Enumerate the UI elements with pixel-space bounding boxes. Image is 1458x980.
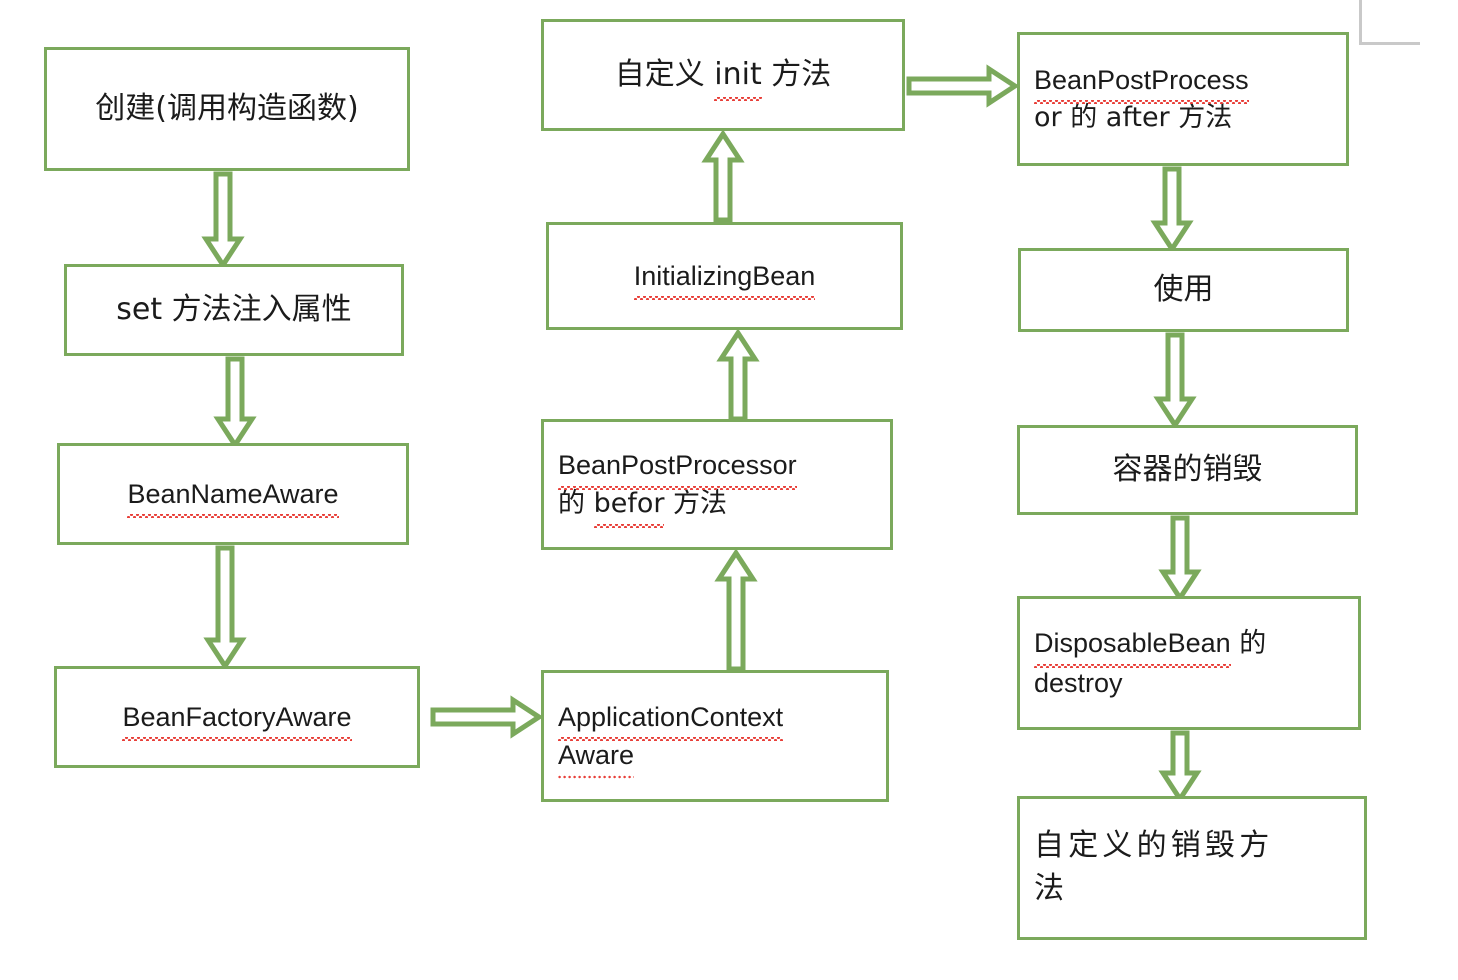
arrow-create-to-set	[203, 171, 243, 269]
arrow-custominit-to-bppafter	[906, 66, 1018, 108]
node-bpp-before-line1: BeanPostProcessor	[558, 446, 797, 484]
node-bean-name-aware-label: BeanNameAware	[127, 475, 338, 513]
node-custom-destroy-line2: 法	[1034, 868, 1068, 911]
arrow-beanfactoryaware-to-applicationcontextaware	[430, 697, 542, 739]
node-bpp-before-line2-prefix: 的	[558, 488, 594, 519]
node-custom-init: 自定义 init 方法	[541, 19, 905, 131]
node-container-destroy: 容器的销毁	[1017, 425, 1358, 515]
arrow-use-to-containerdestroy	[1155, 332, 1195, 428]
node-create: 创建(调用构造函数)	[44, 47, 410, 171]
node-set-inject-label: set 方法注入属性	[116, 289, 351, 332]
node-initializing-bean-label: InitializingBean	[634, 257, 816, 295]
arrow-set-to-beannameaware	[215, 356, 255, 448]
node-bean-factory-aware-label: BeanFactoryAware	[122, 698, 351, 736]
node-bean-post-processor-after: BeanPostProcess or 的 after 方法	[1017, 32, 1349, 166]
node-custom-init-misspelled: init	[714, 54, 761, 97]
node-custom-destroy-line1: 自定义的销毁方	[1034, 825, 1273, 868]
node-aca-line2: Aware	[558, 736, 634, 774]
node-bpp-before-line2-suffix: 方法	[664, 488, 727, 519]
node-bean-post-processor-before: BeanPostProcessor 的 befor 方法	[541, 419, 893, 550]
page-corner-mark	[1359, 0, 1420, 45]
node-disposable-bean-misspelled: DisposableBean	[1034, 624, 1231, 662]
node-disposable-bean-line1-suffix: 的	[1231, 628, 1267, 659]
node-bpp-before-misspelled: befor	[594, 485, 665, 523]
node-create-label: 创建(调用构造函数)	[95, 88, 358, 131]
arrow-bppbefore-to-initializingbean	[718, 330, 758, 422]
node-disposable-bean: DisposableBean 的 destroy	[1017, 596, 1361, 730]
arrow-applicationcontextaware-to-bppbefore	[716, 550, 756, 672]
node-custom-init-prefix: 自定义	[615, 57, 715, 92]
node-container-destroy-label: 容器的销毁	[1113, 449, 1263, 492]
arrow-bppafter-to-use	[1152, 166, 1192, 252]
node-initializing-bean: InitializingBean	[546, 222, 903, 330]
node-bean-name-aware: BeanNameAware	[57, 443, 409, 545]
arrow-disposablebean-to-customdestroy	[1160, 730, 1200, 802]
arrow-containerdestroy-to-disposablebean	[1160, 515, 1200, 601]
node-bean-factory-aware: BeanFactoryAware	[54, 666, 420, 768]
node-application-context-aware: ApplicationContext Aware	[541, 670, 889, 802]
node-custom-destroy: 自定义的销毁方 法	[1017, 796, 1367, 940]
node-disposable-bean-line2: destroy	[1034, 664, 1123, 702]
arrow-beannameaware-to-beanfactoryaware	[205, 545, 245, 669]
node-aca-line1: ApplicationContext	[558, 698, 783, 736]
node-bpp-after-line1: BeanPostProcess	[1034, 61, 1249, 99]
node-set-inject: set 方法注入属性	[64, 264, 404, 356]
flowchart-canvas: 创建(调用构造函数) set 方法注入属性 BeanNameAware Bean…	[0, 0, 1458, 980]
node-bpp-after-line2: or 的 after 方法	[1034, 99, 1232, 137]
node-use-label: 使用	[1154, 269, 1214, 312]
arrow-initializingbean-to-custominit	[703, 131, 743, 223]
node-use: 使用	[1018, 248, 1349, 332]
node-custom-init-suffix: 方法	[762, 57, 832, 92]
